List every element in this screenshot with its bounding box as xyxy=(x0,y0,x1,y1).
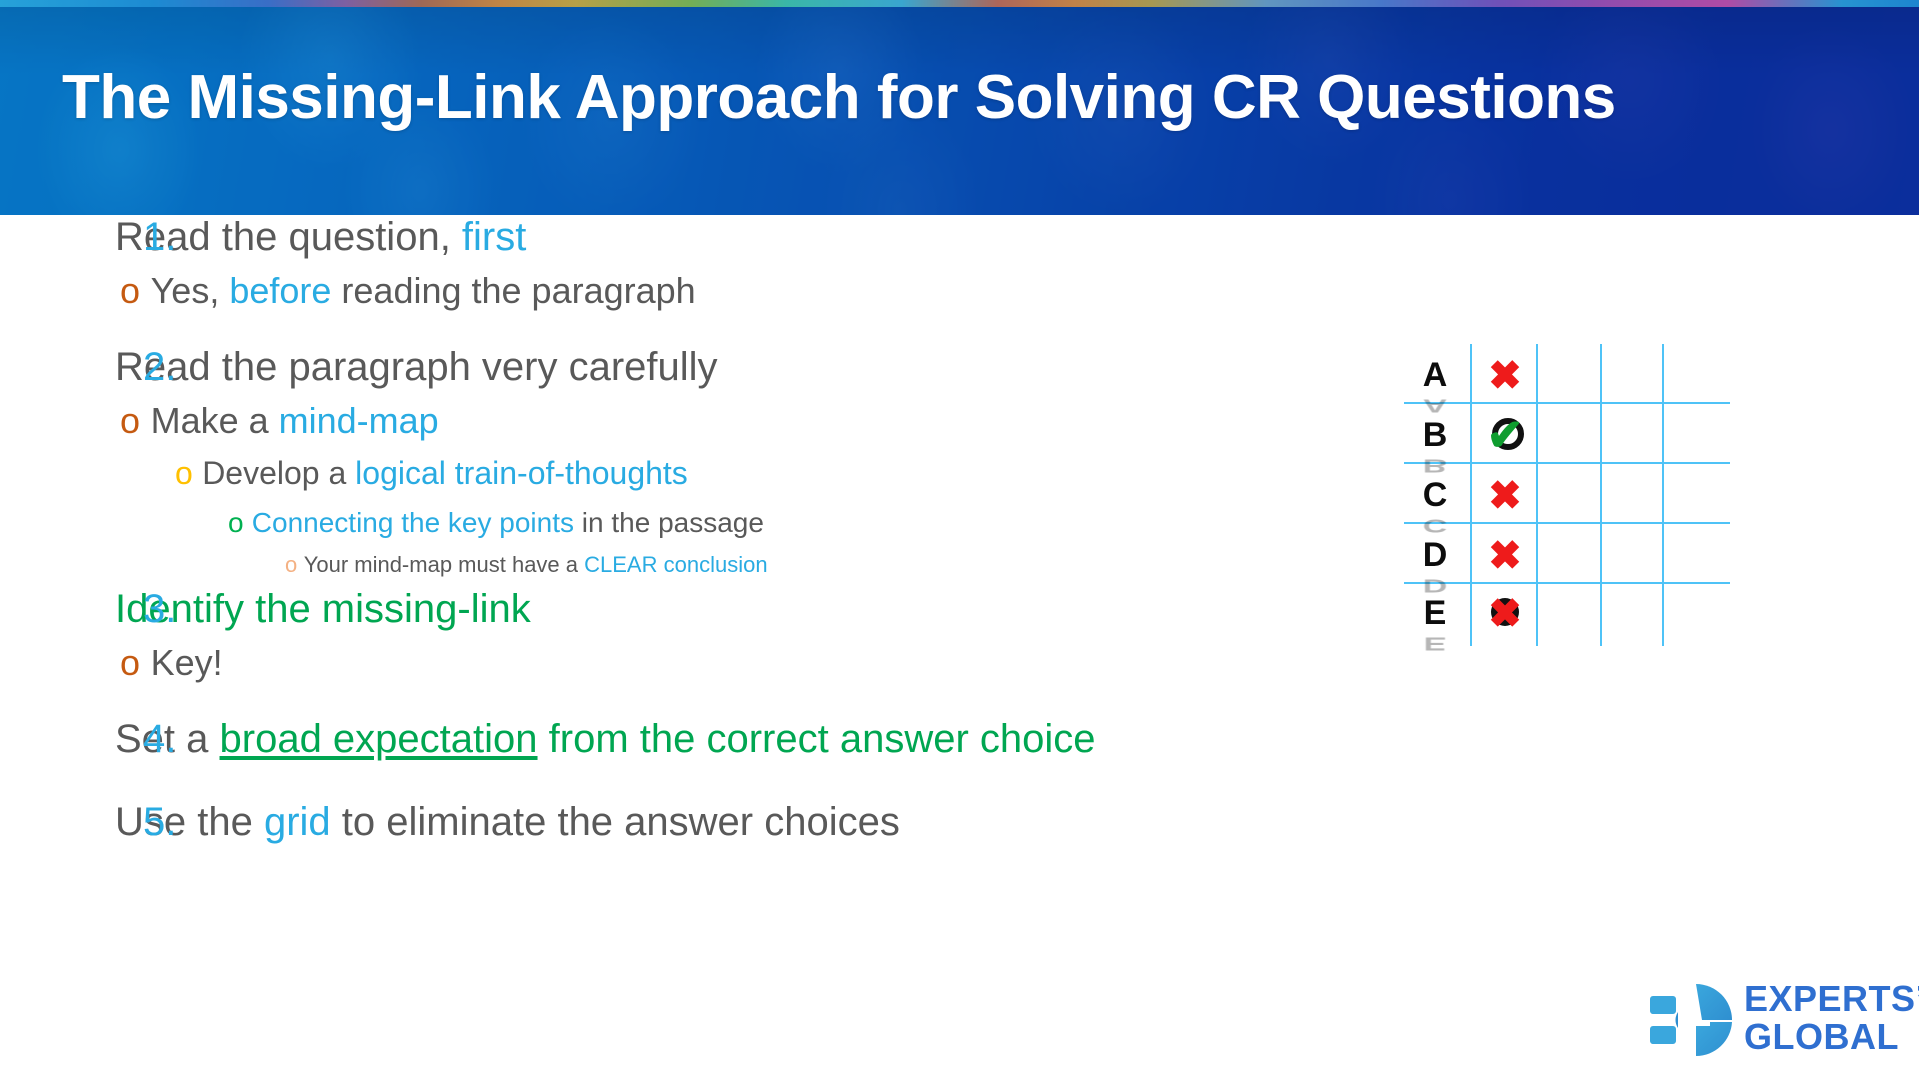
list-item-3-text: Identify the missing-link xyxy=(115,587,531,631)
grid-row-label-c-reflection: C xyxy=(1404,515,1466,536)
grid-row-label-d: D D xyxy=(1404,536,1466,575)
grid-row-label-e-text: E xyxy=(1424,594,1447,632)
list-item-4-number: 4. xyxy=(143,717,176,762)
list-item-2-sub-4-highlight: CLEAR conclusion xyxy=(584,552,767,577)
cross-icon: ✖ xyxy=(1474,474,1536,518)
list-item-5-text-c: to eliminate the answer choices xyxy=(331,800,900,844)
list-item-4-text-c: from the correct answer choice xyxy=(538,717,1096,761)
grid-row-label-b-text: B xyxy=(1423,416,1448,454)
grid-vline-3 xyxy=(1600,344,1602,646)
grid-row-label-c: C C xyxy=(1404,476,1466,515)
list-item-1-number: 1. xyxy=(143,215,176,260)
list-item-5: 5. Use the grid to eliminate the answer … xyxy=(115,800,900,845)
grid-row-label-b-reflection: B xyxy=(1404,455,1466,476)
grid-vline-4 xyxy=(1662,344,1664,646)
grid-row-label-d-text: D xyxy=(1423,536,1448,574)
experts-global-g-icon xyxy=(1648,982,1734,1063)
grid-cell-b-1[interactable]: ✔ xyxy=(1474,414,1536,464)
list-item-5-number: 5. xyxy=(143,800,176,845)
list-item-3: 3. Identify the missing-link xyxy=(115,587,531,632)
list-item-2-sub-4: oYour mind-map must have a CLEAR conclus… xyxy=(285,552,768,578)
list-item-2-sub-1-highlight: mind-map xyxy=(279,400,439,441)
answer-choice-grid[interactable]: A A ✖ B B ✔ C C ✖ D D ✖ E E ✖ xyxy=(1404,344,1730,646)
list-item-2-sub-3-highlight: Connecting the key points xyxy=(252,507,574,538)
list-item-2-number: 2. xyxy=(143,345,176,390)
list-item-1-highlight: first xyxy=(462,215,526,259)
bullet-marker-orange: o xyxy=(120,270,151,312)
bullet-marker-green: o xyxy=(228,507,252,539)
cross-icon: ✖ xyxy=(1474,592,1536,636)
list-item-2: 2. Read the paragraph very carefully xyxy=(115,345,718,390)
grid-vline-2 xyxy=(1536,344,1538,646)
list-item-2-sub-2: oDevelop a logical train-of-thoughts xyxy=(175,455,688,492)
grid-hline-2 xyxy=(1404,462,1730,464)
header-color-strip xyxy=(0,0,1919,7)
bullet-marker-peach: o xyxy=(285,552,304,578)
logo-line-2: GLOBAL xyxy=(1744,1018,1899,1056)
list-item-4: 4. Set a broad expectation from the corr… xyxy=(115,717,1096,762)
bullet-marker-gold: o xyxy=(175,455,202,492)
grid-cell-e-1[interactable]: ✖ xyxy=(1474,592,1536,642)
list-item-3-number: 3. xyxy=(143,587,176,632)
grid-row-label-a-reflection: A xyxy=(1404,395,1466,416)
list-item-1: 1. Read the question, first xyxy=(115,215,526,260)
bullet-marker-orange: o xyxy=(120,642,151,684)
list-item-3-sub-1-text: Key! xyxy=(151,642,223,683)
list-item-3-sub-1: oKey! xyxy=(120,642,223,684)
bullet-marker-orange: o xyxy=(120,400,151,442)
grid-row-label-e: E E xyxy=(1404,594,1466,633)
list-item-2-sub-3-text-b: in the passage xyxy=(574,507,764,538)
cross-icon: ✖ xyxy=(1474,354,1536,398)
grid-row-label-d-reflection: D xyxy=(1404,575,1466,596)
list-item-5-text-a: Use the xyxy=(115,800,264,844)
check-icon: ✔ xyxy=(1474,414,1536,458)
experts-global-logo: EXPERTS’ GLOBAL xyxy=(1648,978,1910,1062)
slide-header-banner: The Missing-Link Approach for Solving CR… xyxy=(0,0,1919,215)
list-item-4-highlight: broad expectation xyxy=(220,717,538,761)
slide-title: The Missing-Link Approach for Solving CR… xyxy=(62,62,1616,133)
grid-cell-d-1[interactable]: ✖ xyxy=(1474,534,1536,584)
list-item-5-highlight: grid xyxy=(264,800,331,844)
grid-hline-3 xyxy=(1404,522,1730,524)
grid-cell-c-1[interactable]: ✖ xyxy=(1474,474,1536,524)
grid-hline-4 xyxy=(1404,582,1730,584)
list-item-2-sub-4-text-a: Your mind-map must have a xyxy=(304,552,584,577)
grid-row-label-a: A A xyxy=(1404,356,1466,395)
list-item-1-sub-1-highlight: before xyxy=(229,270,331,311)
grid-vline-1 xyxy=(1470,344,1472,646)
list-item-2-sub-2-highlight: logical train-of-thoughts xyxy=(355,455,688,491)
list-item-2-sub-2-text-a: Develop a xyxy=(202,455,355,491)
list-item-2-sub-3: oConnecting the key points in the passag… xyxy=(228,507,764,539)
list-item-2-sub-1: oMake a mind-map xyxy=(120,400,439,442)
list-item-1-sub-1-text-c: reading the paragraph xyxy=(331,270,695,311)
list-item-1-sub-1: oYes, before reading the paragraph xyxy=(120,270,696,312)
list-item-2-text: Read the paragraph very carefully xyxy=(115,345,718,389)
grid-hline-1 xyxy=(1404,402,1730,404)
list-item-2-sub-1-text-a: Make a xyxy=(151,400,279,441)
logo-line-1: EXPERTS’ xyxy=(1744,980,1919,1018)
grid-row-label-a-text: A xyxy=(1423,356,1448,394)
cross-icon: ✖ xyxy=(1474,534,1536,578)
grid-cell-a-1[interactable]: ✖ xyxy=(1474,354,1536,404)
grid-row-label-b: B B xyxy=(1404,416,1466,455)
grid-row-label-c-text: C xyxy=(1423,476,1448,514)
list-item-1-sub-1-text-a: Yes, xyxy=(151,270,230,311)
